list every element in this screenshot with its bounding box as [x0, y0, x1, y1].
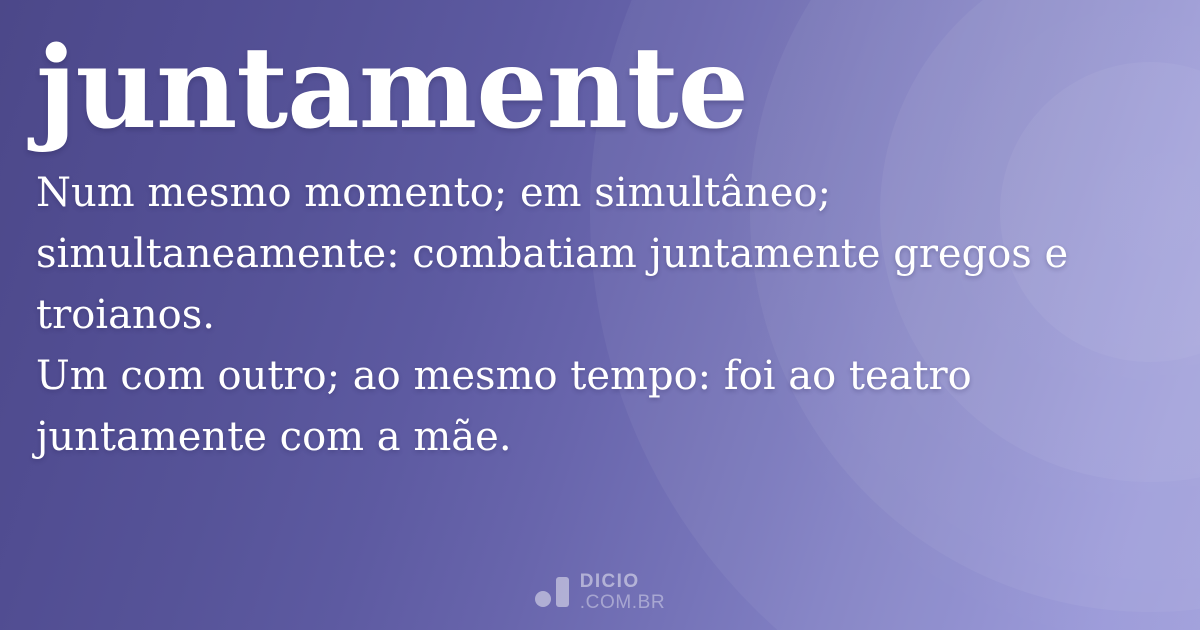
logo-domain-suffix: .COM.BR	[580, 593, 665, 612]
logo-bar-icon	[556, 577, 569, 607]
dictionary-entry-card: juntamente Num mesmo momento; em simultâ…	[0, 0, 1200, 630]
logo-brand-name: DICIO	[580, 572, 665, 591]
logo-circle-icon	[535, 591, 551, 607]
definition-list: Num mesmo momento; em simultâneo; simult…	[36, 163, 1136, 467]
card-content: juntamente Num mesmo momento; em simultâ…	[0, 0, 1200, 630]
definition-sense-2: Um com outro; ao mesmo tempo: foi ao tea…	[36, 346, 1136, 468]
logo-wordmark: DICIO .COM.BR	[580, 572, 665, 612]
site-logo[interactable]: DICIO .COM.BR	[0, 572, 1200, 612]
page-title: juntamente	[36, 26, 1160, 151]
definition-sense-1: Num mesmo momento; em simultâneo; simult…	[36, 163, 1136, 345]
logo-mark-icon	[535, 577, 569, 607]
